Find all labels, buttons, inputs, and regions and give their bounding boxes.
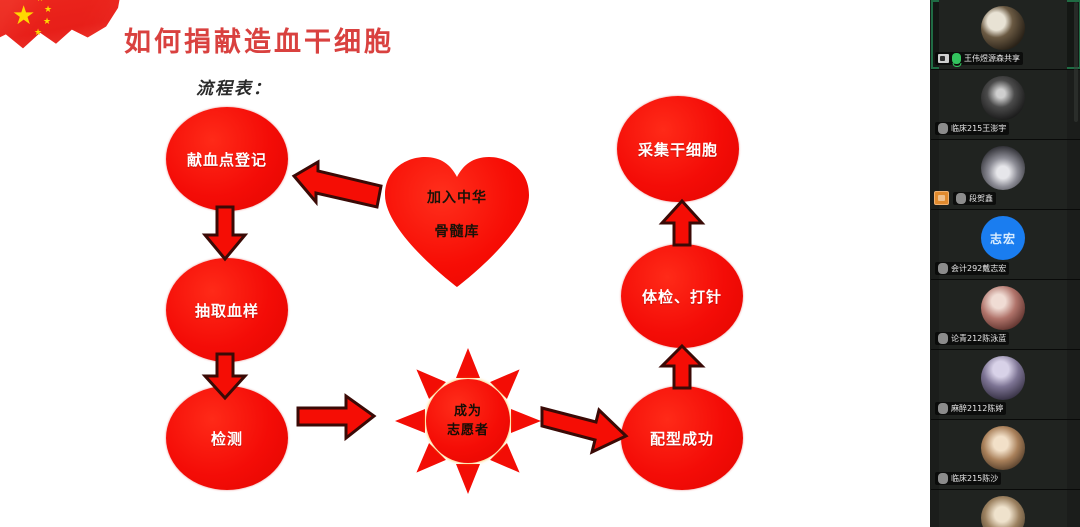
participant-tile[interactable] xyxy=(931,490,1080,527)
arrow-right-test-to-sun xyxy=(296,392,376,444)
participant-tile[interactable]: 麻醉2112陈婷 xyxy=(931,350,1080,420)
microphone-muted-icon xyxy=(956,193,966,204)
heart-text: 加入中华 骨髓库 xyxy=(381,181,533,249)
heart-shape-join-registry: 加入中华 骨髓库 xyxy=(381,155,533,287)
flow-node-testing-label: 检测 xyxy=(211,428,243,449)
heart-text-line2: 骨髓库 xyxy=(381,215,533,249)
participant-name-bar: 王伟煜源森共享 xyxy=(935,52,1023,65)
arrow-down-register-to-sample xyxy=(202,205,248,261)
participant-name: 会计292戴志宏 xyxy=(951,263,1006,274)
flow-node-exam-injection-label: 体检、打针 xyxy=(642,286,722,307)
participant-name-bar: 段贺鑫 xyxy=(953,192,996,205)
flow-node-register-label: 献血点登记 xyxy=(187,149,267,170)
sun-ray-icon-5 xyxy=(456,464,480,494)
avatar xyxy=(981,76,1025,120)
flow-node-collect-stem-cells-label: 采集干细胞 xyxy=(638,139,718,160)
sun-text: 成为 志愿者 xyxy=(447,402,489,440)
sun-text-line2: 志愿者 xyxy=(447,421,489,440)
sun-ray-icon-1 xyxy=(456,348,480,378)
sun-text-line1: 成为 xyxy=(447,402,489,421)
participant-name: 王伟煜源森共享 xyxy=(964,53,1020,64)
slide-title: 如何捐献造血干细胞 xyxy=(124,20,394,59)
heart-text-line1: 加入中华 xyxy=(381,181,533,215)
participant-strip-scrollbar[interactable] xyxy=(1074,2,1078,122)
flow-node-register: 献血点登记 xyxy=(166,107,288,211)
flow-node-match-success-label: 配型成功 xyxy=(650,428,714,449)
avatar xyxy=(981,426,1025,470)
microphone-muted-icon xyxy=(938,333,948,344)
flag-star-large: ★ xyxy=(12,2,35,28)
participant-name: 论青212陈泳蓝 xyxy=(951,333,1006,344)
arrow-right-sun-to-match xyxy=(540,400,628,456)
sun-core: 成为 志愿者 xyxy=(426,379,510,463)
participant-tile[interactable]: 临床215陈沙 xyxy=(931,420,1080,490)
arrow-left-heart-to-register xyxy=(292,160,384,212)
arrow-down-sample-to-test xyxy=(202,352,248,400)
meeting-screen-share-view: ★ ★ ★ ★ ★ 如何捐献造血干细胞 流程表： 献血点登记 抽取血样 检测 采… xyxy=(0,0,1080,527)
flow-node-blood-sample: 抽取血样 xyxy=(166,258,288,362)
china-flag-icon: ★ ★ ★ ★ ★ xyxy=(0,0,122,76)
sun-shape-become-volunteer: 成为 志愿者 xyxy=(392,345,544,497)
microphone-muted-icon xyxy=(938,263,948,274)
avatar: 志宏 xyxy=(981,216,1025,260)
microphone-on-icon xyxy=(952,53,961,64)
participant-name: 段贺鑫 xyxy=(969,193,993,204)
participant-name-bar: 临床215王澎宇 xyxy=(935,122,1009,135)
participant-tile[interactable]: 段贺鑫 xyxy=(931,140,1080,210)
flag-star-small-3: ★ xyxy=(43,17,51,26)
sun-ray-icon-3 xyxy=(511,409,541,433)
avatar xyxy=(981,286,1025,330)
participant-video-feed xyxy=(939,490,1067,527)
arrow-up-exam-to-collect xyxy=(659,199,705,247)
participant-tile[interactable]: 论青212陈泳蓝 xyxy=(931,280,1080,350)
flow-node-match-success: 配型成功 xyxy=(621,386,743,490)
participant-name: 麻醉2112陈婷 xyxy=(951,403,1003,414)
flow-node-exam-injection: 体检、打针 xyxy=(621,244,743,348)
arrow-up-match-to-exam xyxy=(659,344,705,390)
avatar xyxy=(981,356,1025,400)
participant-name-bar: 临床215陈沙 xyxy=(935,472,1001,485)
participant-list[interactable]: 王伟煜源森共享临床215王澎宇段贺鑫志宏会计292戴志宏论青212陈泳蓝麻醉21… xyxy=(931,0,1080,527)
microphone-muted-icon xyxy=(938,473,948,484)
participant-name-bar: 会计292戴志宏 xyxy=(935,262,1009,275)
flow-node-testing: 检测 xyxy=(166,386,288,490)
participant-name-bar: 论青212陈泳蓝 xyxy=(935,332,1009,345)
microphone-muted-icon xyxy=(938,403,948,414)
participant-tile[interactable]: 临床215王澎宇 xyxy=(931,70,1080,140)
participant-tile[interactable]: 志宏会计292戴志宏 xyxy=(931,210,1080,280)
flag-star-small-1: ★ xyxy=(36,0,44,3)
participant-name: 临床215陈沙 xyxy=(951,473,998,484)
shared-slide-canvas: ★ ★ ★ ★ ★ 如何捐献造血干细胞 流程表： 献血点登记 抽取血样 检测 采… xyxy=(0,0,930,527)
participant-video-strip[interactable]: 王伟煜源森共享临床215王澎宇段贺鑫志宏会计292戴志宏论青212陈泳蓝麻醉21… xyxy=(930,0,1080,527)
microphone-muted-icon xyxy=(938,123,948,134)
flag-star-small-2: ★ xyxy=(44,5,52,14)
sun-ray-icon-7 xyxy=(395,409,425,433)
participant-tile[interactable]: 王伟煜源森共享 xyxy=(931,0,1080,70)
screen-share-icon xyxy=(938,54,949,63)
avatar xyxy=(981,496,1025,527)
flow-node-blood-sample-label: 抽取血样 xyxy=(195,300,259,321)
avatar xyxy=(981,6,1025,50)
slide-subtitle: 流程表： xyxy=(196,74,272,99)
flag-star-small-4: ★ xyxy=(34,28,42,37)
host-badge-icon xyxy=(934,191,949,205)
avatar xyxy=(981,146,1025,190)
flow-node-collect-stem-cells: 采集干细胞 xyxy=(617,96,739,202)
participant-name: 临床215王澎宇 xyxy=(951,123,1006,134)
participant-name-bar: 麻醉2112陈婷 xyxy=(935,402,1006,415)
